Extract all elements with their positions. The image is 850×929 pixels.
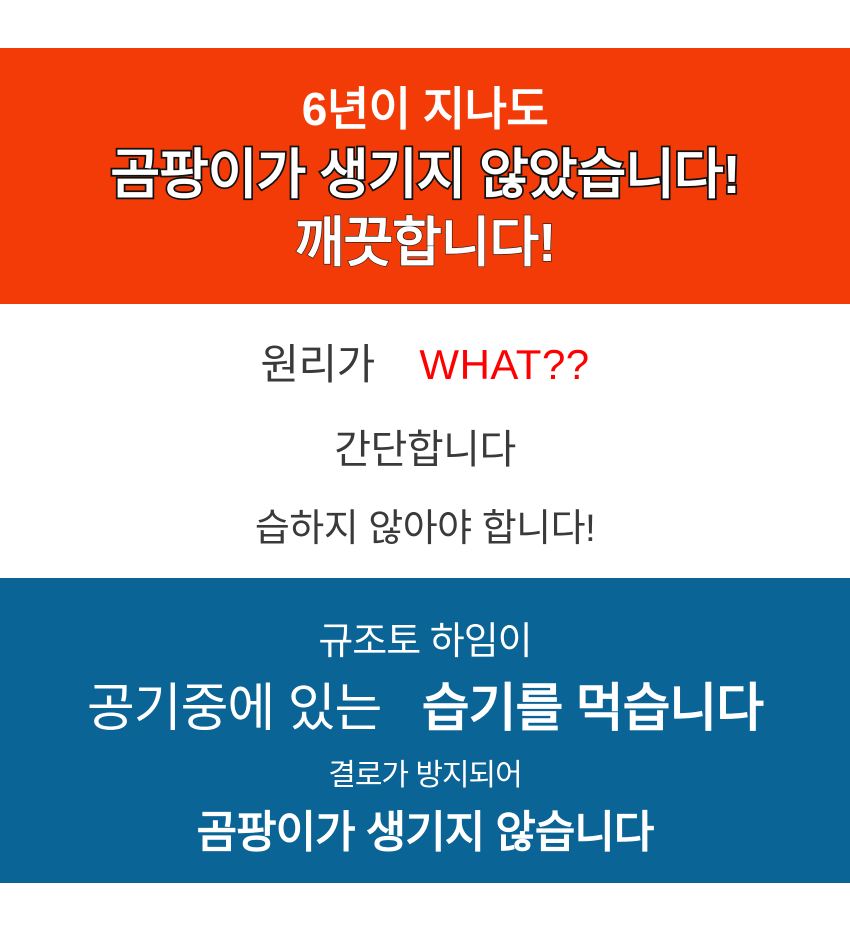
benefit-blue-band: 규조토 하임이 공기중에 있는 습기를 먹습니다 결로가 방지되어 곰팡이가 생…: [0, 578, 850, 883]
benefit-moisture-strong-text: 습기를 먹습니다: [422, 680, 763, 738]
benefit-no-mold-result: 곰팡이가 생기지 않습니다: [197, 811, 654, 855]
benefit-moisture-absorption-line: 공기중에 있는 습기를 먹습니다: [87, 683, 763, 735]
benefit-product-name: 규조토 하임이: [318, 623, 531, 661]
explainer-question-line: 원리가 WHAT??: [260, 344, 589, 386]
explainer-question-highlight: WHAT??: [419, 341, 589, 388]
promotional-banner-page: 6년이 지나도 곰팡이가 생기지 않았습니다! 깨끗합니다! 원리가 WHAT?…: [0, 0, 850, 929]
hero-headline-no-mold: 곰팡이가 생기지 않았습니다!: [110, 148, 739, 202]
hero-orange-band: 6년이 지나도 곰팡이가 생기지 않았습니다! 깨끗합니다!: [0, 48, 850, 304]
explainer-question-prefix: 원리가: [260, 341, 374, 388]
explainer-answer-dryness: 습하지 않아야 합니다!: [255, 510, 595, 548]
hero-headline-clean: 깨끗합니다!: [295, 216, 555, 270]
explainer-answer-simple: 간단합니다: [334, 430, 516, 470]
benefit-moisture-normal-text: 공기중에 있는: [87, 680, 382, 738]
benefit-condensation-prevented: 결로가 방지되어: [328, 761, 522, 791]
hero-headline-duration: 6년이 지나도: [302, 86, 548, 132]
explainer-white-section: 원리가 WHAT?? 간단합니다 습하지 않아야 합니다!: [0, 304, 850, 578]
